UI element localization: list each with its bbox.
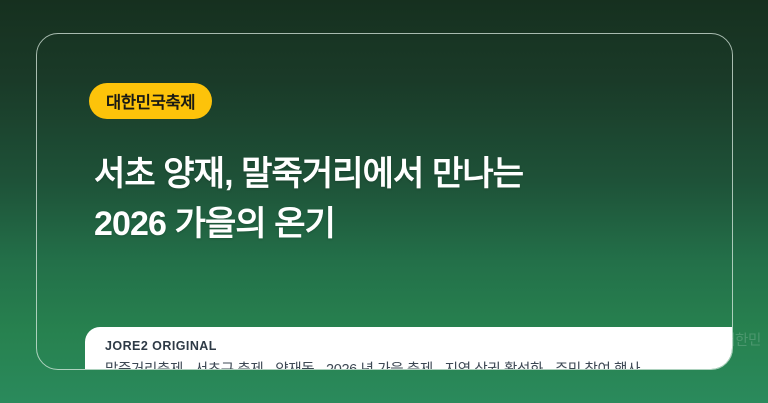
title-line-2: 2026 가을의 온기 [94,199,733,249]
category-badge: 대한민국축제 [89,83,212,119]
title-line-1: 서초 양재, 말죽거리에서 만나는 [94,149,733,199]
meta-tag-list: 말죽거리축제 · 서초구 축제 · 양재동 · 2026 년 가을 축제 · 지… [105,360,733,370]
poster-canvas: 대한민국축제 서초 양재, 말죽거리에서 만나는 2026 가을의 온기 JOR… [0,0,768,403]
page-title: 서초 양재, 말죽거리에서 만나는 2026 가을의 온기 [94,149,733,250]
meta-panel: JORE2 ORIGINAL 말죽거리축제 · 서초구 축제 · 양재동 · 2… [85,327,733,370]
hero-card: 대한민국축제 서초 양재, 말죽거리에서 만나는 2026 가을의 온기 JOR… [36,33,733,370]
meta-kicker: JORE2 ORIGINAL [105,338,733,355]
